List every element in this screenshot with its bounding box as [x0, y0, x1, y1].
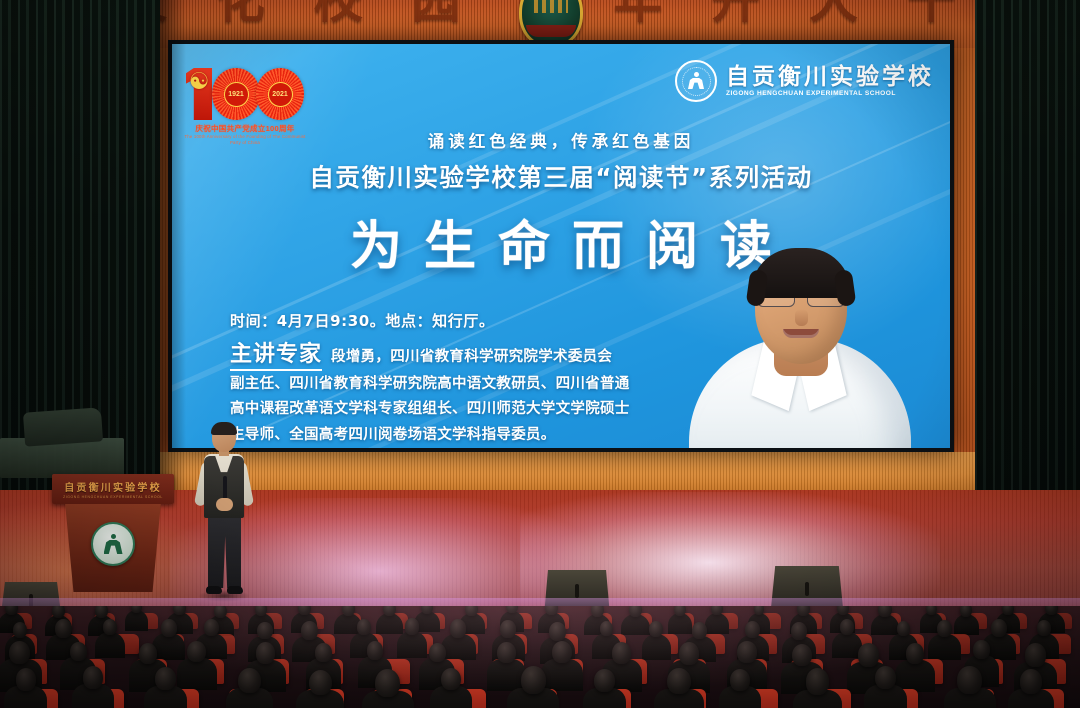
audience-member-head [926, 606, 937, 615]
cpc-year-start: 1921 [224, 82, 249, 107]
audience-member-body [642, 634, 671, 661]
audience-member-head [521, 666, 546, 694]
audience-member-head [238, 668, 261, 693]
audience-member-head [594, 669, 615, 692]
wall-letter: 校 [314, 0, 365, 32]
cpc-digit-zero-right: 2021 [256, 68, 304, 120]
audience-member-head [649, 621, 663, 637]
lectern: 自贡衡川实验学校 ZIGONG HENGCHUAN EXPERIMENTAL S… [52, 474, 174, 592]
speaker-hands [216, 498, 233, 511]
lectern-body [61, 504, 165, 592]
audience-member-head [367, 641, 383, 659]
slide-bio-line: 生导师、全国高考四川阅卷场语文学科指导委员。 [230, 424, 700, 447]
student-figure-icon [687, 72, 705, 90]
led-screen: ☯ 1921 2021 庆祝中国共产党成立100周年 The 100th Ann… [172, 44, 950, 448]
audience-member-head [960, 606, 972, 617]
audience-member-head [937, 620, 953, 637]
audience-member-body [487, 659, 526, 691]
audience-member-body [376, 613, 403, 634]
school-name-cn: 自贡衡川实验学校 [726, 65, 934, 89]
audience-member-body [871, 614, 899, 635]
audience-member-body [668, 613, 693, 634]
audience-member-head [70, 642, 87, 661]
audience-member-head [792, 644, 813, 667]
audience-member-head [13, 622, 28, 638]
portrait-hair [751, 248, 851, 298]
audience-member-body [152, 633, 185, 660]
audience-member-head [991, 619, 1007, 637]
audience-member-head [139, 643, 158, 664]
slide-expert-label: 主讲专家 [230, 336, 322, 371]
audience-member-head [500, 620, 516, 638]
stage-speaker-person [192, 424, 256, 600]
audience-member-head [906, 643, 925, 664]
audience-member-head [342, 606, 355, 616]
audience-member-body [928, 634, 961, 661]
audience-member-body [95, 632, 126, 659]
audience-member-head [429, 643, 446, 662]
audience-member-body [397, 631, 427, 658]
audience-member-head [103, 619, 118, 635]
speaker-legs [208, 514, 241, 588]
audience-member-head [957, 666, 982, 694]
audience-member-body [621, 614, 649, 635]
audience-member-head [16, 668, 36, 691]
audience-member-head [674, 606, 686, 616]
student-figure-icon [104, 534, 123, 554]
audience-member-head [383, 606, 396, 616]
portrait-nose [795, 309, 808, 326]
audience-member-head [95, 606, 108, 618]
audience-member-head [797, 606, 810, 616]
audience-member-head [405, 618, 419, 634]
audience-member-head [897, 621, 911, 636]
audience-member-head [679, 642, 699, 664]
slide-bio-line: 副主任、四川省教育科学研究院高中语文教研员、四川省普通 [230, 373, 700, 396]
audience-member-head [256, 642, 276, 664]
slide-expert-intro: 段增勇，四川省教育科学研究院学术委员会 [331, 346, 612, 368]
audience-member-head [552, 641, 572, 664]
wall-letter: 年 [613, 0, 664, 32]
expert-portrait [671, 218, 926, 448]
stage-curtain-right [975, 0, 1080, 492]
audience-member-body [705, 613, 729, 634]
speaker-shoe-left [206, 586, 222, 594]
audience-member-head [692, 622, 708, 639]
audience-member-head [357, 619, 371, 634]
slide-body: 时间：4月7日9:30。地点：知行厅。 主讲专家 段增勇，四川省教育科学研究院学… [230, 310, 700, 447]
audience-member-head [131, 606, 142, 613]
cpc-digit-zero-left: 1921 [212, 68, 260, 120]
audience-member-head [612, 642, 631, 664]
audience-member-head [155, 667, 176, 690]
lectern-name-en: ZIGONG HENGCHUAN EXPERIMENTAL SCHOOL [63, 495, 163, 499]
audience-member-head [465, 606, 477, 616]
audience-member-body [441, 634, 476, 661]
slide-bio-line: 高中课程改革语文学科专家组组长、四川师范大学文学院硕士 [230, 398, 700, 421]
audience-member-head [1037, 620, 1051, 636]
wall-letter: 化 [216, 0, 267, 32]
wall-letter: 大 [809, 0, 860, 32]
audience-member-head [806, 668, 830, 694]
audience-member-head [497, 642, 516, 663]
school-badge-icon [675, 60, 717, 102]
audience-member-head [973, 640, 990, 659]
slide-subtitle: 诵读红色经典，传承红色基因 [172, 128, 950, 152]
audience-member-head [1025, 643, 1046, 666]
school-logo-text: 自贡衡川实验学校 ZIGONG HENGCHUAN EXPERIMENTAL S… [726, 65, 934, 97]
audience-member-head [837, 606, 849, 615]
audience-member-head [549, 622, 566, 641]
audience-seating [0, 606, 1080, 708]
audience-member-head [187, 641, 206, 662]
covered-equipment [23, 407, 103, 446]
curtain-shadow-left [160, 0, 186, 492]
audience-member-head [745, 621, 760, 638]
led-screen-frame: ☯ 1921 2021 庆祝中国共产党成立100周年 The 100th Ann… [168, 40, 954, 452]
wall-letter: 园 [412, 0, 463, 32]
lectern-emblem-icon [91, 522, 135, 566]
audience-member-head [730, 669, 750, 691]
slide-event-title: 自贡衡川实验学校第三届“阅读节”系列活动 [172, 159, 950, 194]
lectern-name-cn: 自贡衡川实验学校 [64, 479, 162, 494]
audience-member-head [214, 606, 227, 618]
audience-member-head [858, 643, 879, 666]
audience-member-head [298, 606, 310, 615]
audience-member-head [875, 666, 896, 689]
wall-letter: 开 [711, 0, 762, 32]
hammer-sickle-icon: ☯ [184, 66, 214, 96]
audience-member-head [711, 606, 722, 615]
audience-member-head [737, 641, 756, 663]
audience-member-head [315, 643, 332, 662]
audience-member-head [5, 606, 18, 615]
school-name-en: ZIGONG HENGCHUAN EXPERIMENTAL SCHOOL [726, 90, 934, 97]
audience-member-body [125, 610, 147, 631]
auditorium-photo: 文 化 校 园 年 开 大 千 ☯ [0, 0, 1080, 708]
cpc-year-end: 2021 [268, 82, 293, 107]
school-logo: 自贡衡川实验学校 ZIGONG HENGCHUAN EXPERIMENTAL S… [675, 60, 934, 102]
audience-member-head [791, 622, 807, 640]
audience-member-head [9, 641, 30, 664]
speaker-hair [211, 422, 237, 435]
audience-member-head [441, 668, 461, 690]
audience-member-head [1020, 669, 1042, 693]
audience-member-head [375, 669, 400, 697]
audience-member-head [301, 621, 318, 640]
audience-member-body [954, 614, 979, 635]
audience-member-head [667, 668, 691, 695]
speaker-shoe-right [227, 586, 243, 594]
audience-member-head [52, 606, 65, 618]
audience-member-head [257, 622, 273, 639]
audience-member-head [840, 619, 855, 635]
audience-member-head [1002, 606, 1013, 615]
audience-member-head [309, 670, 332, 696]
lectern-nameplate: 自贡衡川实验学校 ZIGONG HENGCHUAN EXPERIMENTAL S… [52, 474, 174, 504]
audience-member-head [255, 606, 267, 616]
wall-letter: 千 [907, 0, 958, 32]
audience-member-head [83, 666, 103, 689]
audience-member-head [600, 621, 614, 636]
audience-member-head [204, 619, 219, 636]
audience-member-head [450, 619, 467, 638]
slide-expert-line: 主讲专家 段增勇，四川省教育科学研究院学术委员会 [230, 336, 700, 371]
portrait-mouth [783, 329, 819, 338]
audience-member-body [177, 658, 217, 690]
audience-member-head [878, 606, 891, 617]
cpc-100-mark: ☯ 1921 2021 [184, 66, 306, 122]
audience-member-head [161, 619, 177, 637]
audience-member-body [541, 659, 583, 691]
slide-schedule: 时间：4月7日9:30。地点：知行厅。 [230, 310, 700, 331]
audience-member-head [55, 619, 72, 638]
